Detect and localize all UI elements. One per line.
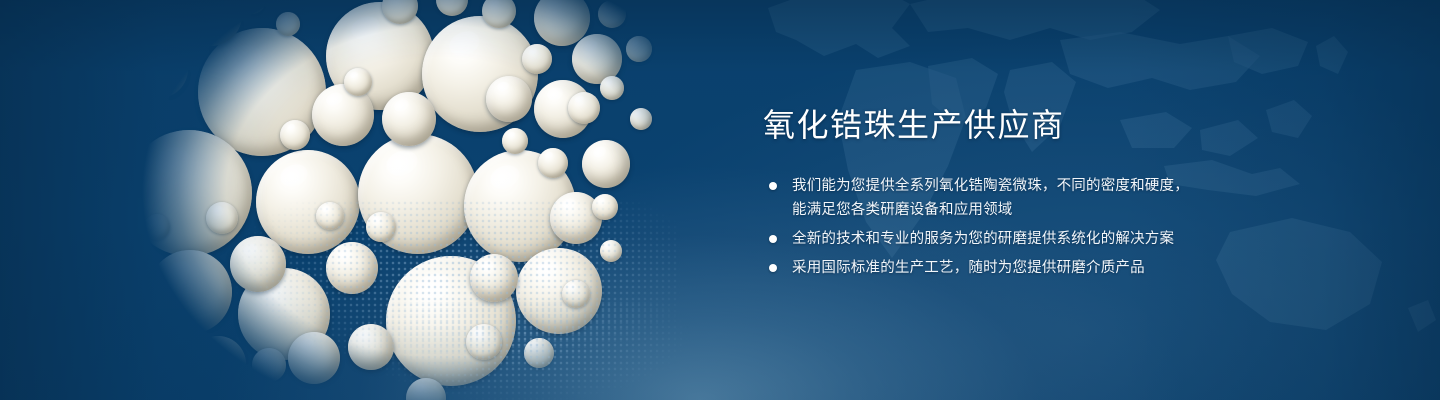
banner-headline: 氧化锆珠生产供应商 <box>763 104 1263 146</box>
feature-text-line-1: 全新的技术和专业的服务为您的研磨提供系统化的解决方案 <box>792 231 1174 247</box>
feature-text-line-2: 能满足您各类研磨设备和应用领域 <box>792 198 1263 222</box>
banner-copy: 氧化锆珠生产供应商 我们能为您提供全系列氧化锆陶瓷微珠，不同的密度和硬度， 能满… <box>763 104 1263 285</box>
feature-text-line-1: 采用国际标准的生产工艺，随时为您提供研磨介质产品 <box>792 260 1145 276</box>
feature-item: 采用国际标准的生产工艺，随时为您提供研磨介质产品 <box>763 256 1263 280</box>
feature-list: 我们能为您提供全系列氧化锆陶瓷微珠，不同的密度和硬度， 能满足您各类研磨设备和应… <box>763 174 1263 280</box>
feature-item: 我们能为您提供全系列氧化锆陶瓷微珠，不同的密度和硬度， 能满足您各类研磨设备和应… <box>763 174 1263 222</box>
zirconia-beads-image <box>130 0 730 400</box>
bullet-dot-icon <box>769 264 777 272</box>
bullet-dot-icon <box>769 235 777 243</box>
bullet-dot-icon <box>769 182 777 190</box>
feature-item: 全新的技术和专业的服务为您的研磨提供系统化的解决方案 <box>763 227 1263 251</box>
hero-banner: 氧化锆珠生产供应商 我们能为您提供全系列氧化锆陶瓷微珠，不同的密度和硬度， 能满… <box>0 0 1440 400</box>
feature-text-line-1: 我们能为您提供全系列氧化锆陶瓷微珠，不同的密度和硬度， <box>792 178 1189 194</box>
